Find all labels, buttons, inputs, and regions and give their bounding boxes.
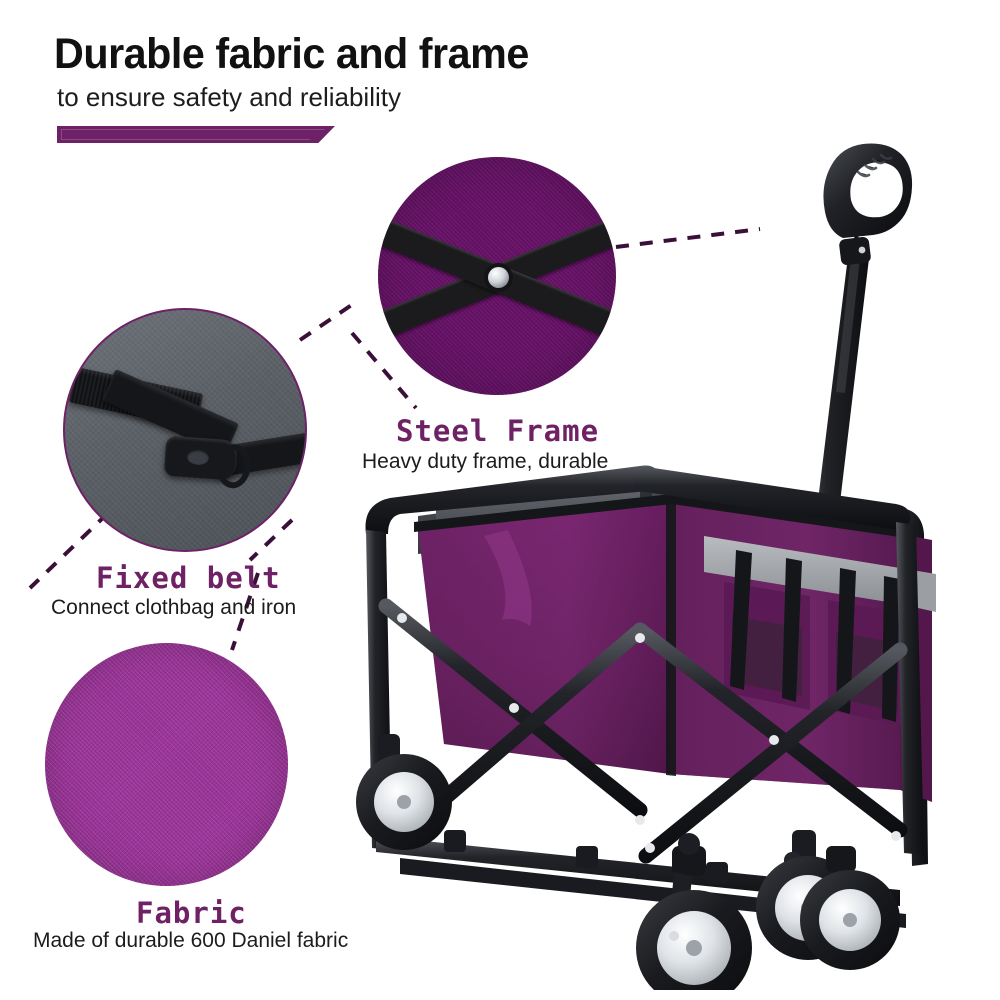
- buckle-icon: [164, 436, 239, 481]
- fabric-weave-texture: [45, 643, 288, 886]
- callout-title-fixed-belt: Fixed belt: [96, 561, 281, 595]
- handle-grip-icon: [823, 143, 912, 238]
- callout-desc-fabric: Made of durable 600 Daniel fabric: [33, 929, 348, 953]
- callout-image-fabric: [45, 643, 288, 886]
- callout-title-fabric: Fabric: [136, 896, 247, 930]
- accent-bar: [57, 126, 335, 143]
- callout-image-fixed-belt: [63, 308, 307, 552]
- callout-desc-fixed-belt: Connect clothbag and iron: [51, 596, 296, 620]
- product-image-wagon: [340, 130, 980, 990]
- page-subtitle: to ensure safety and reliability: [57, 82, 401, 113]
- page-title: Durable fabric and frame: [54, 30, 529, 79]
- infographic-canvas: Durable fabric and frame to ensure safet…: [0, 0, 1000, 1000]
